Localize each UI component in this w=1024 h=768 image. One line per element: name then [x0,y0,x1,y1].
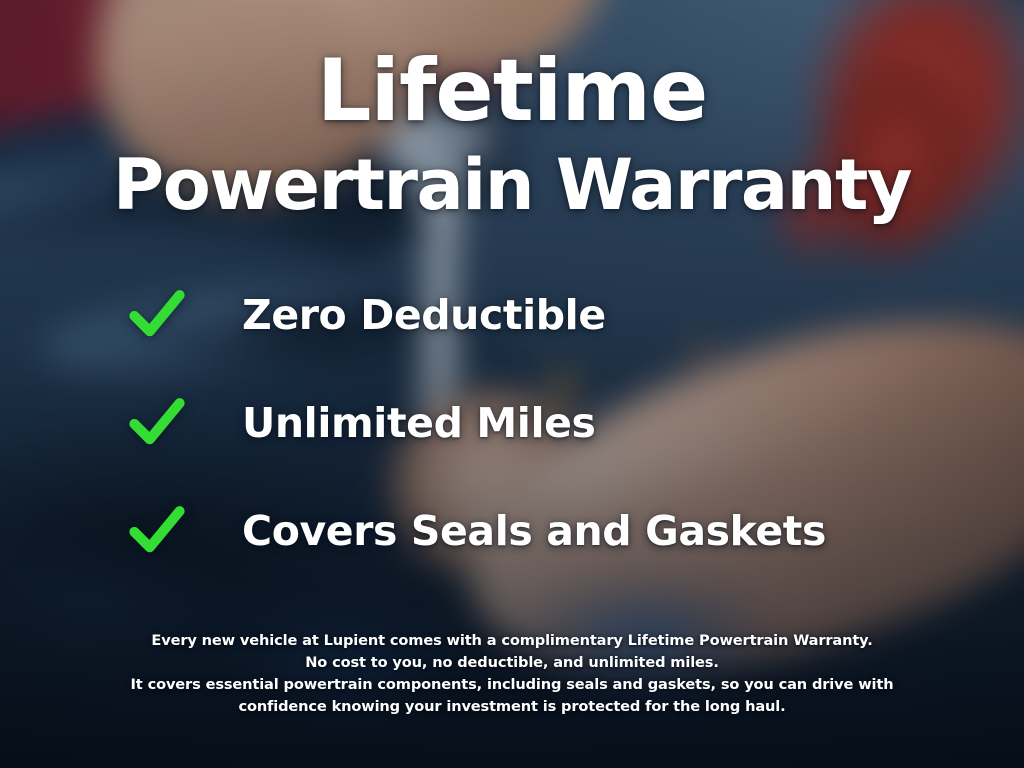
check-mark-icon [128,286,186,344]
feature-list: Zero Deductible Unlimited Miles Covers S… [128,284,826,562]
description-line: No cost to you, no deductible, and unlim… [0,652,1024,674]
description-paragraph: Every new vehicle at Lupient comes with … [0,630,1024,718]
headline-line-2: Powertrain Warranty [0,150,1024,220]
feature-item-zero-deductible: Zero Deductible [128,284,826,346]
feature-label: Unlimited Miles [242,399,596,447]
promo-banner: Lifetime Powertrain Warranty Zero Deduct… [0,0,1024,768]
feature-item-covers-seals-and-gaskets: Covers Seals and Gaskets [128,500,826,562]
description-line: Every new vehicle at Lupient comes with … [0,630,1024,652]
description-line: confidence knowing your investment is pr… [0,696,1024,718]
feature-item-unlimited-miles: Unlimited Miles [128,392,826,454]
description-line: It covers essential powertrain component… [0,674,1024,696]
check-mark-icon [128,394,186,452]
banner-content: Lifetime Powertrain Warranty Zero Deduct… [0,0,1024,768]
headline-line-1: Lifetime [0,48,1024,134]
feature-label: Zero Deductible [242,291,606,339]
feature-label: Covers Seals and Gaskets [242,507,826,555]
check-mark-icon [128,502,186,560]
